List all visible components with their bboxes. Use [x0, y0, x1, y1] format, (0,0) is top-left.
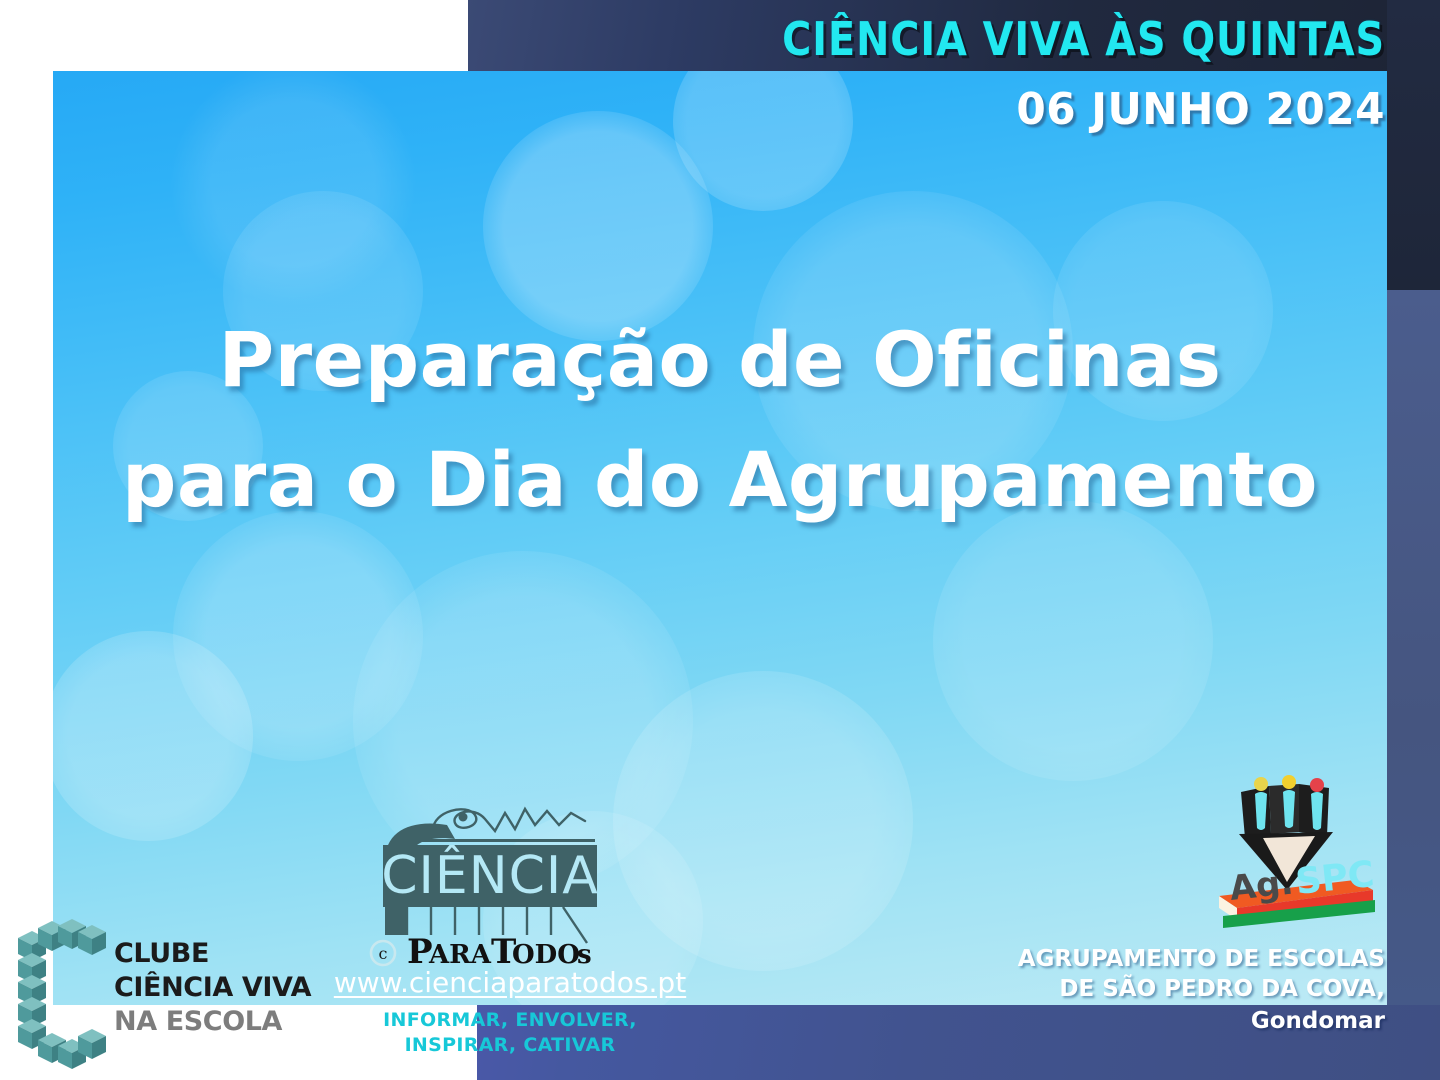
school-name-line-1: AGRUPAMENTO DE ESCOLAS	[1018, 944, 1385, 974]
slide-title-line-1: Preparação de Oficinas	[53, 300, 1387, 420]
agrupamento-logo: Ag. SPC	[1205, 772, 1385, 932]
ciencia-para-todos-url[interactable]: www.cienciaparatodos.pt	[330, 966, 690, 999]
ciencia-para-todos-logo: CIÊNCIA c P ARA T ODO s	[355, 795, 655, 965]
ciencia-para-todos-tagline: INFORMAR, ENVOLVER, INSPIRAR, CATIVAR	[330, 1008, 690, 1058]
bokeh-circle	[613, 671, 913, 971]
svg-text:Ag.: Ag.	[1228, 863, 1295, 909]
slide-title-line-2: para o Dia do Agrupamento	[53, 420, 1387, 540]
slide-canvas: CIÊNCIA VIVA ÀS QUINTAS 06 JUNHO 2024 Pr…	[0, 0, 1440, 1080]
bokeh-circle	[933, 501, 1213, 781]
event-date: 06 JUNHO 2024	[1016, 84, 1385, 135]
school-name: AGRUPAMENTO DE ESCOLAS DE SÃO PEDRO DA C…	[1018, 944, 1385, 1004]
bokeh-circle	[673, 71, 853, 211]
clube-ciencia-viva-logo: CLUBE CIÊNCIA VIVA NA ESCOLA	[14, 915, 314, 1075]
school-city: Gondomar	[1251, 1008, 1385, 1034]
svg-text:c: c	[379, 944, 388, 963]
clube-logo-line-2: CIÊNCIA VIVA	[114, 971, 311, 1005]
clube-logo-text: CLUBE CIÊNCIA VIVA NA ESCOLA	[114, 937, 311, 1039]
ciencia-para-todos-icon: CIÊNCIA c P ARA T ODO s	[355, 795, 655, 970]
right-slate-band	[1387, 290, 1440, 1080]
series-title: CIÊNCIA VIVA ÀS QUINTAS	[782, 12, 1385, 66]
bokeh-circle	[173, 511, 423, 761]
clube-logo-line-3: NA ESCOLA	[114, 1005, 311, 1039]
right-navy-band	[1387, 0, 1440, 290]
school-name-line-2: DE SÃO PEDRO DA COVA,	[1018, 974, 1385, 1004]
svg-text:CIÊNCIA: CIÊNCIA	[381, 845, 599, 906]
tagline-line-2: INSPIRAR, CATIVAR	[330, 1033, 690, 1058]
slide-title: Preparação de Oficinas para o Dia do Agr…	[53, 300, 1387, 540]
svg-text:SPC: SPC	[1294, 854, 1377, 903]
tagline-line-1: INFORMAR, ENVOLVER,	[330, 1008, 690, 1033]
agspc-graduation-books-icon: Ag. SPC	[1205, 772, 1385, 932]
clube-logo-line-1: CLUBE	[114, 937, 311, 971]
bokeh-circle	[53, 631, 253, 841]
cube-c-icon	[14, 917, 110, 1073]
